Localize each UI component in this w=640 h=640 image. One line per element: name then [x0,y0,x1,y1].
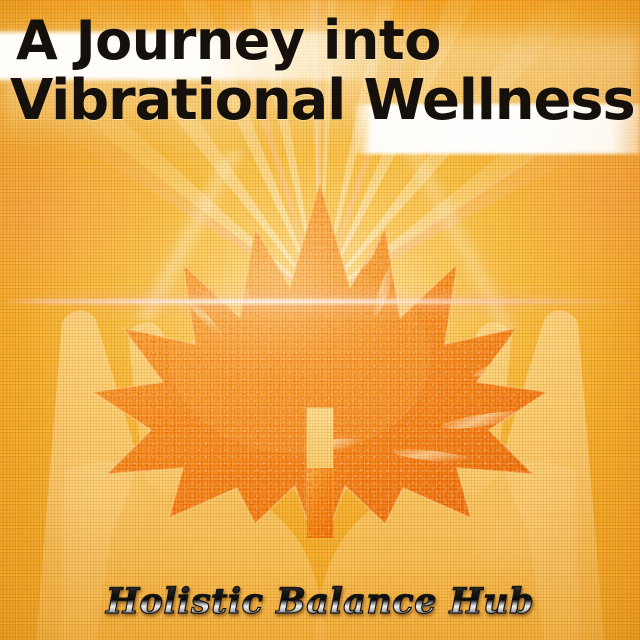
title-line1-text: A Journey into [0,14,640,68]
title-word-wellness: Wellness [363,68,634,133]
title-line2-text: Vibrational Wellness [0,73,640,129]
cover-title-block: A Journey into Vibrational Wellness [0,14,640,129]
title-line-2: Vibrational Wellness [0,73,640,129]
audiobook-cover: A Journey into Vibrational Wellness Holi… [0,0,640,640]
title-line-1: A Journey into [0,14,640,68]
brand-wordmark: Holistic Balance Hub [0,581,640,622]
brand-name-text: Holistic Balance Hub [106,581,534,622]
title-word-vibrational: Vibrational [10,68,345,133]
